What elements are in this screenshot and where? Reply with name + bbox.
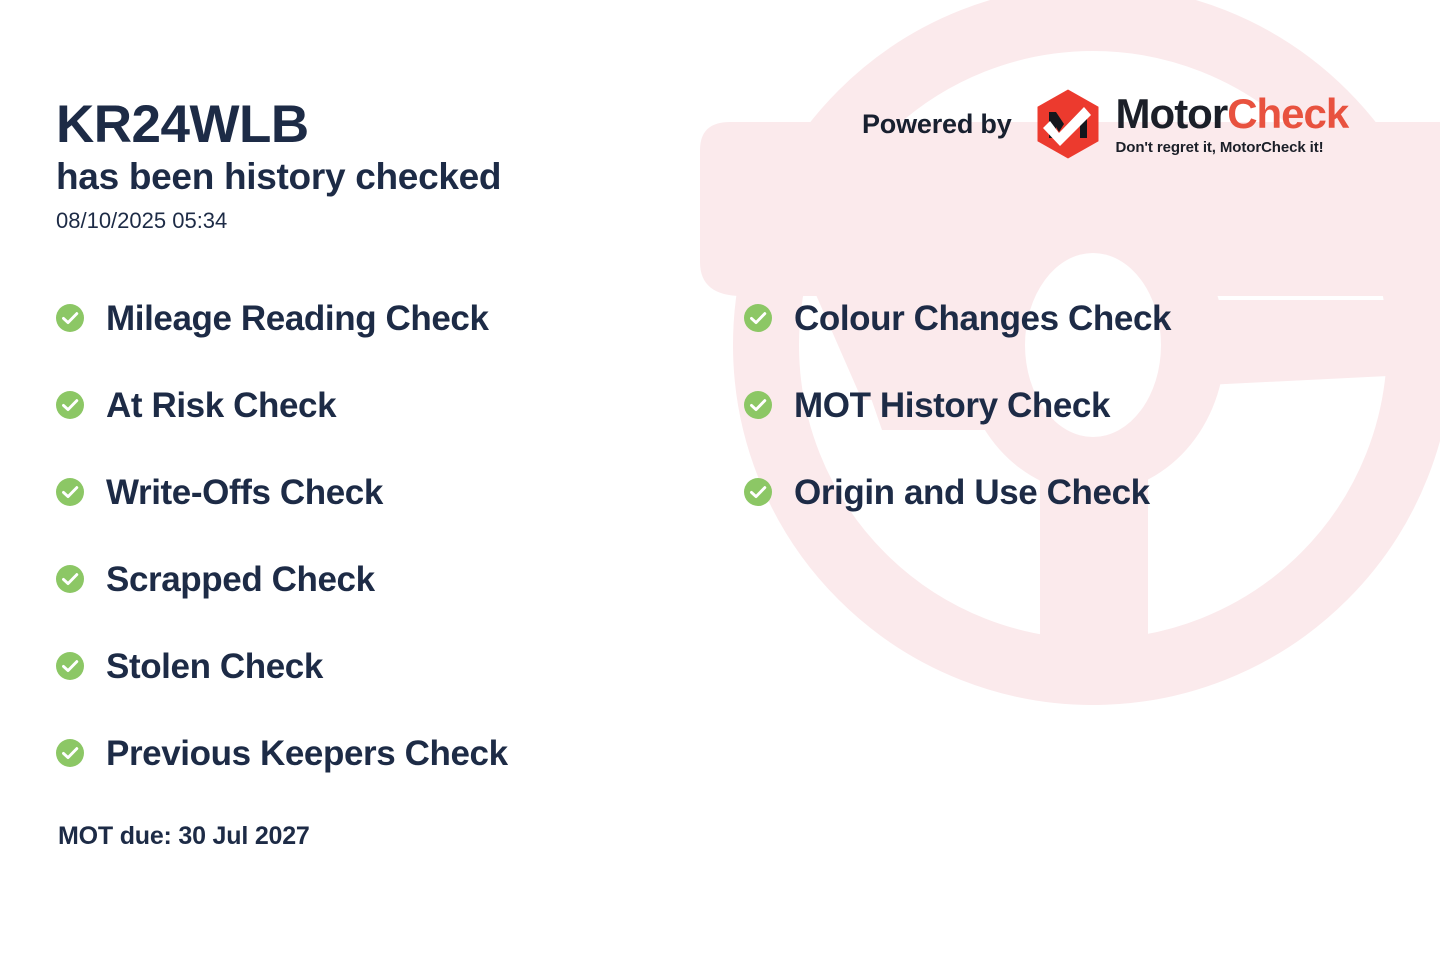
check-list-item-label: Write-Offs Check [106,475,383,510]
check-list-item-label: Scrapped Check [106,562,375,597]
check-list-left-column: Mileage Reading Check At Risk Check Writ… [56,292,696,814]
logo-word-motor: Motor [1116,90,1228,137]
vehicle-registration-plate: KR24WLB [56,96,696,153]
powered-by-label: Powered by [862,109,1012,140]
check-list-item: Scrapped Check [56,553,696,605]
check-list-item: Colour Changes Check [744,292,1384,344]
header-subtitle: has been history checked [56,155,696,199]
check-list-item-label: At Risk Check [106,388,336,423]
check-list-item-label: Mileage Reading Check [106,301,489,336]
green-check-circle-icon [56,478,84,506]
green-check-circle-icon [56,739,84,767]
check-list-item-label: Origin and Use Check [794,475,1150,510]
check-list-item: Stolen Check [56,640,696,692]
mot-due-date: MOT due: 30 Jul 2027 [58,822,310,851]
green-check-circle-icon [744,391,772,419]
green-check-circle-icon [744,304,772,332]
check-list-item: Previous Keepers Check [56,727,696,779]
motorcheck-logo[interactable]: MotorCheck Don't regret it, MotorCheck i… [1034,88,1349,160]
logo-word-check: Check [1227,90,1348,137]
check-list-item: Mileage Reading Check [56,292,696,344]
check-list-item-label: Previous Keepers Check [106,736,508,771]
green-check-circle-icon [744,478,772,506]
check-timestamp: 08/10/2025 05:34 [56,207,696,236]
check-list-right-column: Colour Changes Check MOT History Check O… [744,292,1384,553]
check-list-item: At Risk Check [56,379,696,431]
green-check-circle-icon [56,652,84,680]
check-list-item-label: Stolen Check [106,649,323,684]
check-list-item: MOT History Check [744,379,1384,431]
logo-tagline: Don't regret it, MotorCheck it! [1116,139,1349,156]
check-list-item: Write-Offs Check [56,466,696,518]
card-content: KR24WLB has been history checked 08/10/2… [0,0,1440,960]
green-check-circle-icon [56,565,84,593]
logo-wordmark: MotorCheck [1116,93,1349,135]
check-list-item: Origin and Use Check [744,466,1384,518]
header-block: KR24WLB has been history checked 08/10/2… [56,96,696,235]
check-list-item-label: MOT History Check [794,388,1110,423]
green-check-circle-icon [56,391,84,419]
vehicle-check-summary-card: KR24WLB has been history checked 08/10/2… [0,0,1440,960]
green-check-circle-icon [56,304,84,332]
motorcheck-logo-text: MotorCheck Don't regret it, MotorCheck i… [1116,93,1349,156]
powered-by-branding: Powered by MotorCheck Don't regret it, M… [862,88,1348,160]
motorcheck-hexagon-logo-icon [1034,88,1102,160]
check-list-item-label: Colour Changes Check [794,301,1171,336]
